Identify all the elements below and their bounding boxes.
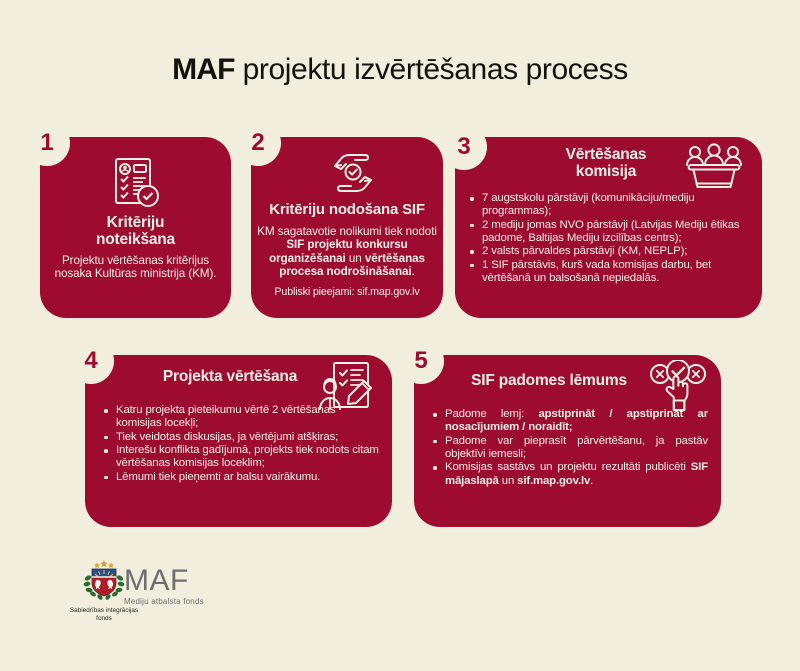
card-1-body: Projektu vērtēšanas kritērijus nosaka Ku… (50, 254, 221, 280)
card-2-body: KM sagatavotie nolikumi tiek nodoti SIF … (257, 225, 437, 278)
maf-logo-word: MAF (124, 566, 264, 596)
card-4-bullet-list: Katru projekta pieteikumu vērtē 2 vērtēš… (101, 404, 381, 484)
step-number-badge-2: 2 (235, 120, 281, 166)
step-card-3: 3 Vērtēšanas komisija 7 augstskolu pārst… (455, 137, 762, 318)
list-item: Katru projekta pieteikumu vērtē 2 vērtēš… (101, 404, 381, 431)
card-5-bullet-list: Padome lemj: apstiprināt / apstiprināt a… (430, 408, 708, 488)
infographic-page: MAF projektu izvērtēšanas process 1 (0, 0, 800, 671)
card-1-heading-line2: noteikšana (96, 231, 175, 248)
step-card-2: 2 Kritēriju nodošana SIF KM sagatavotie … (251, 137, 443, 318)
card-3-bullet-list: 7 augstskolu pārstāvji (komunikāciju/med… (467, 192, 756, 285)
step-number-badge-4: 4 (68, 338, 114, 384)
maf-logo-caption: Mediju atbalsta fonds (124, 597, 264, 606)
card-2-heading: Kritēriju nodošana SIF (257, 202, 437, 218)
list-item: 2 mediju jomas NVO pārstāvji (Latvijas M… (467, 219, 756, 246)
page-title-rest: projektu izvērtēšanas process (235, 53, 628, 86)
list-item: Komisijas sastāvs un projektu rezultāti … (430, 461, 708, 488)
card-5-heading: SIF padomes lēmums (449, 373, 649, 390)
list-item: Interešu konflikta gadījumā, projekts ti… (101, 444, 381, 471)
list-item: 2 valsts pārvaldes pārstāvji (KM, NEPLP)… (467, 245, 756, 258)
page-title: MAF projektu izvērtēšanas process (0, 53, 800, 87)
card-1-heading-line1: Kritēriju (107, 214, 165, 231)
step-number-badge-5: 5 (398, 338, 444, 384)
sif-caption-line2: fonds (96, 615, 112, 622)
sif-logo-caption: Sabiedrības integrācijas fonds (58, 607, 150, 623)
list-item: 7 augstskolu pārstāvji (komunikāciju/med… (467, 192, 756, 219)
step-card-4: 4 Projekta vērtēšana Katru projekta piet… (85, 355, 392, 527)
card-1-heading: Kritēriju noteikšana (50, 215, 221, 248)
card-3-heading: Vērtēšanas komisija (531, 147, 681, 180)
step-number-badge-1: 1 (24, 120, 70, 166)
card-4-heading: Projekta vērtēšana (125, 369, 335, 386)
footer-logos: Sabiedrības integrācijas fonds MAF Medij… (40, 558, 340, 628)
checklist-document-icon (112, 157, 160, 214)
sif-caption-line1: Sabiedrības integrācijas (70, 607, 138, 614)
card-3-heading-line2: komisija (576, 163, 636, 180)
list-item: Padome lemj: apstiprināt / apstiprināt a… (430, 408, 708, 435)
card-2-footnote: Publiski pieejami: sif.map.gov.lv (257, 286, 437, 298)
committee-people-icon (683, 143, 745, 196)
list-item: Padome var pieprasīt pārvērtēšanu, ja pa… (430, 435, 708, 462)
step-number-badge-3: 3 (441, 124, 487, 170)
list-item: 1 SIF pārstāvis, kurš vada komisijas dar… (467, 259, 756, 286)
handover-check-icon (329, 151, 377, 200)
card-3-heading-line1: Vērtēšanas (566, 146, 647, 163)
step-card-5: 5 SIF padomes lēmums Padome lemj: apstip… (414, 355, 721, 527)
step-card-1: 1 Kritēriju noteikšana Projekt (40, 137, 231, 318)
list-item: Lēmumi tiek pieņemti ar balsu vairākumu. (101, 471, 381, 484)
maf-logo: MAF Mediju atbalsta fonds (124, 566, 264, 606)
page-title-bold: MAF (172, 53, 235, 86)
latvia-coat-of-arms-icon (82, 560, 126, 600)
list-item: Tiek veidotas diskusijas, ja vērtējumi a… (101, 431, 381, 444)
